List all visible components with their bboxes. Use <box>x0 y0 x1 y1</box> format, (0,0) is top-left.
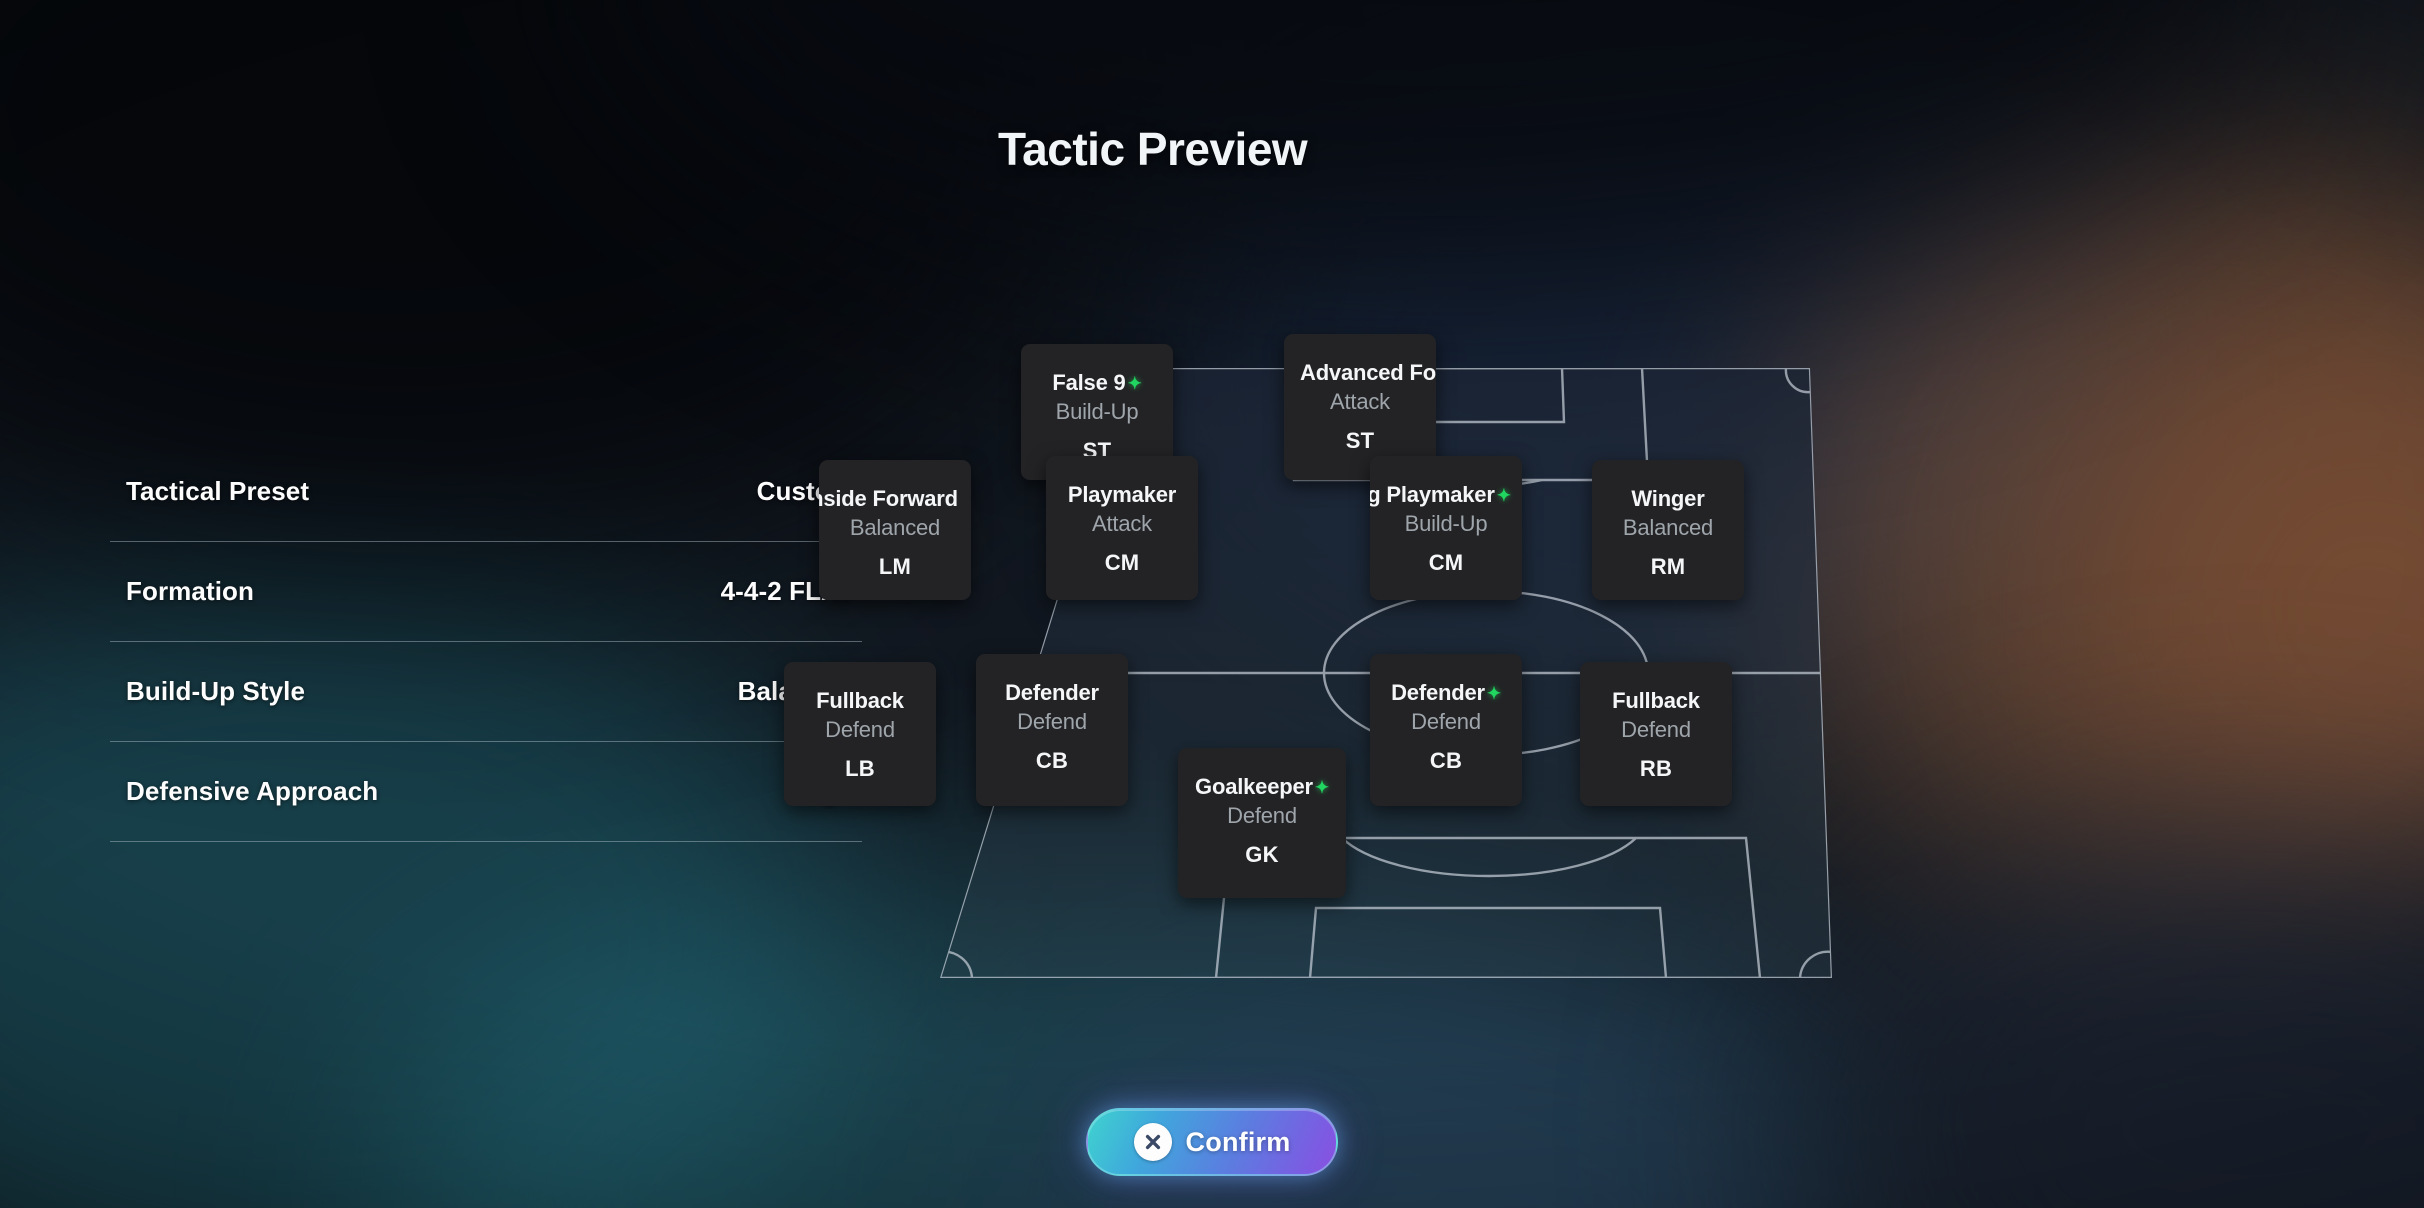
player-focus-label: Defend <box>1584 716 1728 745</box>
player-card-lb-fullback[interactable]: Fullback Defend LB <box>784 662 936 806</box>
tactic-summary-panel: Tactical Preset Custom Formation 4-4-2 F… <box>110 442 862 842</box>
player-role-label: Defender✦ <box>1374 680 1518 705</box>
player-card-cb-defender-left[interactable]: Defender Defend CB <box>976 654 1128 806</box>
player-position-label: ST <box>1288 427 1432 456</box>
player-focus-label: Defend <box>980 708 1124 737</box>
player-role-label: Winger <box>1596 486 1740 511</box>
confirm-button[interactable]: Confirm <box>1086 1108 1338 1176</box>
x-button-icon <box>1134 1123 1172 1161</box>
player-position-label: CM <box>1374 549 1518 578</box>
player-position-label: LM <box>823 553 967 582</box>
player-position-label: GK <box>1182 841 1342 870</box>
player-role-label: Fullback <box>1584 688 1728 713</box>
player-focus-label: Balanced <box>1596 514 1740 543</box>
player-card-cm-playmaker[interactable]: Playmaker Attack CM <box>1046 456 1198 600</box>
summary-row-build-up-style[interactable]: Build-Up Style Balanced <box>110 642 862 742</box>
player-position-label: CM <box>1050 549 1194 578</box>
summary-label-tactical-preset: Tactical Preset <box>126 476 309 507</box>
green-diamond-icon: ✦ <box>1487 684 1501 703</box>
summary-label-defensive-approach: Defensive Approach <box>126 776 378 807</box>
player-role-label: Defender <box>980 680 1124 705</box>
player-focus-label: Attack <box>1288 388 1432 417</box>
summary-row-formation[interactable]: Formation 4-4-2 FLAT <box>110 542 862 642</box>
player-role-label: False 9✦ <box>1025 370 1169 395</box>
player-focus-label: Defend <box>1374 708 1518 737</box>
player-card-rm-winger[interactable]: Winger Balanced RM <box>1592 460 1744 600</box>
player-focus-label: Defend <box>788 716 932 745</box>
player-focus-label: Build-Up <box>1374 510 1518 539</box>
player-position-label: RM <box>1596 553 1740 582</box>
pitch-preview: False 9✦ Build-Up ST Advanced For Attack… <box>880 330 2300 1010</box>
confirm-button-label: Confirm <box>1186 1127 1291 1158</box>
player-position-label: CB <box>980 747 1124 776</box>
player-position-label: CB <box>1374 747 1518 776</box>
green-diamond-icon: ✦ <box>1315 778 1329 797</box>
page-title: Tactic Preview <box>998 122 1307 176</box>
player-focus-label: Build-Up <box>1025 398 1169 427</box>
player-role-label: nside Forward <box>823 486 967 511</box>
summary-row-defensive-approach[interactable]: Defensive Approach High <box>110 742 862 842</box>
player-focus-label: Balanced <box>823 514 967 543</box>
player-card-cb-defender-right[interactable]: Defender✦ Defend CB <box>1370 654 1522 806</box>
player-card-rb-fullback[interactable]: Fullback Defend RB <box>1580 662 1732 806</box>
player-role-label: Playmaker <box>1050 482 1194 507</box>
green-diamond-icon: ✦ <box>1497 486 1511 505</box>
player-card-cm-deep-lying-playmaker[interactable]: g Playmaker✦ Build-Up CM <box>1370 456 1522 600</box>
player-role-label: Fullback <box>788 688 932 713</box>
player-role-label: g Playmaker✦ <box>1374 482 1518 507</box>
player-position-label: RB <box>1584 755 1728 784</box>
green-diamond-icon: ✦ <box>1128 374 1142 393</box>
player-focus-label: Defend <box>1182 802 1342 831</box>
player-role-label: Goalkeeper✦ <box>1182 774 1342 799</box>
summary-row-tactical-preset[interactable]: Tactical Preset Custom <box>110 442 862 542</box>
player-position-label: LB <box>788 755 932 784</box>
player-card-lm-inside-forward[interactable]: nside Forward Balanced LM <box>819 460 971 600</box>
player-focus-label: Attack <box>1050 510 1194 539</box>
player-card-gk-goalkeeper[interactable]: Goalkeeper✦ Defend GK <box>1178 748 1346 898</box>
player-role-label: Advanced For <box>1288 360 1432 385</box>
summary-label-formation: Formation <box>126 576 254 607</box>
summary-label-build-up-style: Build-Up Style <box>126 676 305 707</box>
